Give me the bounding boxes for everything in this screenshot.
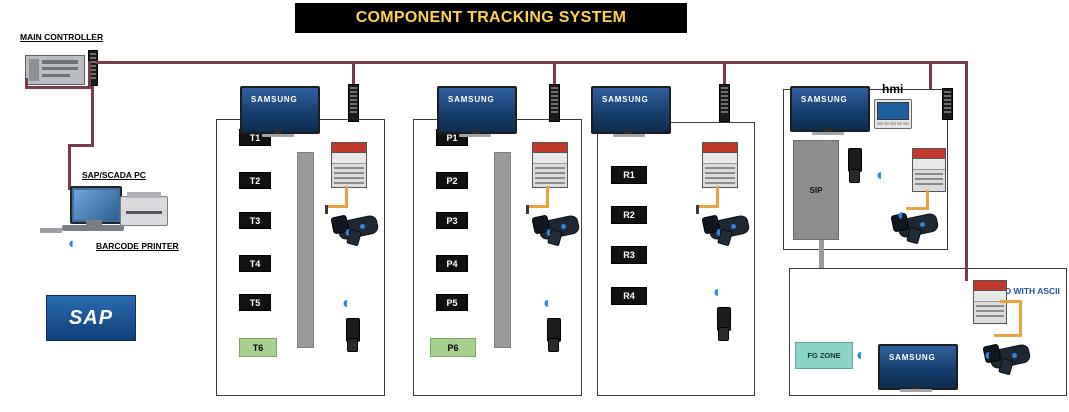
wifi-icon-fg: ◐ <box>856 348 866 364</box>
monitor-t-brand: SAMSUNG <box>251 95 298 104</box>
terminal-block-r <box>719 84 730 122</box>
wifi-icon-t-scan: ◐ <box>342 296 352 312</box>
network-cable-pc-left <box>68 144 94 147</box>
station-p-rack <box>494 152 511 348</box>
wifi-icon-sip-scan: ◐ <box>876 168 886 184</box>
monitor-t-foot <box>262 134 294 137</box>
handheld-scanner-r[interactable] <box>714 307 734 339</box>
wifi-icon-sip-gun: ◐ <box>897 208 907 224</box>
slot-t2[interactable]: T2 <box>239 172 271 189</box>
monitor-p-brand: SAMSUNG <box>448 95 495 104</box>
wifi-icon-t-gun: ◐ <box>344 225 354 241</box>
network-drop-r <box>723 61 726 85</box>
handheld-scanner-t[interactable] <box>343 318 363 350</box>
page-title-text: COMPONENT TRACKING SYSTEM <box>356 9 627 27</box>
wifi-icon-rio: ◐ <box>984 348 994 364</box>
hmi-panel[interactable] <box>874 99 912 129</box>
io-cable-p-drop <box>526 205 529 214</box>
slot-p4[interactable]: P4 <box>436 255 468 272</box>
slot-p2[interactable]: P2 <box>436 172 468 189</box>
slot-p6[interactable]: P6 <box>430 338 476 357</box>
monitor-r-brand: SAMSUNG <box>602 95 649 104</box>
io-cable-t-drop <box>325 205 328 214</box>
barcode-scanner-gun-t[interactable] <box>330 208 386 248</box>
slot-t3[interactable]: T3 <box>239 212 271 229</box>
network-cable-mc-up <box>88 61 91 89</box>
monitor-r-foot <box>613 134 645 137</box>
station-t-rack <box>297 152 314 348</box>
slot-t5[interactable]: T5 <box>239 294 271 311</box>
slot-r4[interactable]: R4 <box>611 287 647 305</box>
desktop-pc-icon <box>70 186 122 224</box>
network-cable-mc-right <box>25 86 91 89</box>
network-bus-cable <box>96 61 932 64</box>
sip-block: SIP <box>793 140 839 240</box>
monitor-r: SAMSUNG <box>591 86 671 134</box>
plc-module-t <box>331 142 367 188</box>
network-cable-pc-down <box>91 86 94 146</box>
network-cable-pc-vert <box>68 144 71 190</box>
monitor-t: SAMSUNG <box>240 86 320 134</box>
monitor-sip-brand: SAMSUNG <box>801 95 848 104</box>
plc-module-r <box>702 142 738 188</box>
monitor-fg-foot <box>900 389 932 392</box>
network-cable-rio <box>965 61 968 281</box>
slot-p3[interactable]: P3 <box>436 212 468 229</box>
hmi-label: hmi <box>882 82 903 96</box>
handheld-scanner-sip[interactable] <box>845 148 865 182</box>
slot-t6[interactable]: T6 <box>239 338 277 357</box>
io-cable-rio-bottom <box>994 334 1022 337</box>
sap-scada-pc-label: SAP/SCADA PC <box>82 170 146 180</box>
slot-t4[interactable]: T4 <box>239 255 271 272</box>
plc-module-sip <box>912 148 946 192</box>
terminal-block-p <box>549 84 560 122</box>
terminal-block-sip <box>942 88 953 120</box>
main-controller-label: MAIN CONTROLLER <box>20 32 103 42</box>
monitor-p-foot <box>459 134 491 137</box>
monitor-sip: SAMSUNG <box>790 86 870 132</box>
slot-r1[interactable]: R1 <box>611 166 647 184</box>
network-drop-sip <box>929 61 932 91</box>
wifi-icon-p-gun: ◐ <box>545 225 555 241</box>
keyboard <box>62 225 124 231</box>
terminal-block-t <box>348 84 359 122</box>
network-drop-t <box>352 61 355 85</box>
plc-module-p <box>532 142 568 188</box>
fg-zone-label: FG ZONE <box>807 351 840 360</box>
io-cable-r-drop <box>696 205 699 214</box>
barcode-scanner-gun-r[interactable] <box>701 208 757 248</box>
main-controller-unit <box>25 55 85 85</box>
slot-r2[interactable]: R2 <box>611 206 647 224</box>
io-cable-rio-vert <box>1019 300 1022 336</box>
monitor-p: SAMSUNG <box>437 86 517 134</box>
slot-p5[interactable]: P5 <box>436 294 468 311</box>
barcode-printer-label: BARCODE PRINTER <box>96 241 179 251</box>
slot-r3[interactable]: R3 <box>611 246 647 264</box>
wifi-icon-p-scan: ◐ <box>543 296 553 312</box>
monitor-fg-brand: SAMSUNG <box>889 353 936 362</box>
sap-logo-text: SAP <box>69 307 113 330</box>
sip-label: SIP <box>810 186 823 195</box>
wifi-icon-r-scan: ◐ <box>713 285 723 301</box>
monitor-fg: SAMSUNG <box>878 344 958 390</box>
page-title: COMPONENT TRACKING SYSTEM <box>295 3 687 33</box>
wifi-icon: ◐ <box>68 236 77 251</box>
fg-zone-block: FG ZONE <box>795 342 853 369</box>
diagram-canvas: COMPONENT TRACKING SYSTEM MAIN CONTROLLE… <box>0 0 1069 412</box>
mouse-pad <box>40 228 62 233</box>
network-drop-p <box>553 61 556 85</box>
wifi-icon-r-gun: ◐ <box>715 225 725 241</box>
printer-icon <box>120 196 168 226</box>
network-cable-rio-top <box>929 61 968 64</box>
monitor-sip-foot <box>812 132 844 135</box>
handheld-scanner-p[interactable] <box>544 318 564 350</box>
sap-logo: SAP <box>46 295 136 341</box>
barcode-scanner-gun-p[interactable] <box>531 208 587 248</box>
